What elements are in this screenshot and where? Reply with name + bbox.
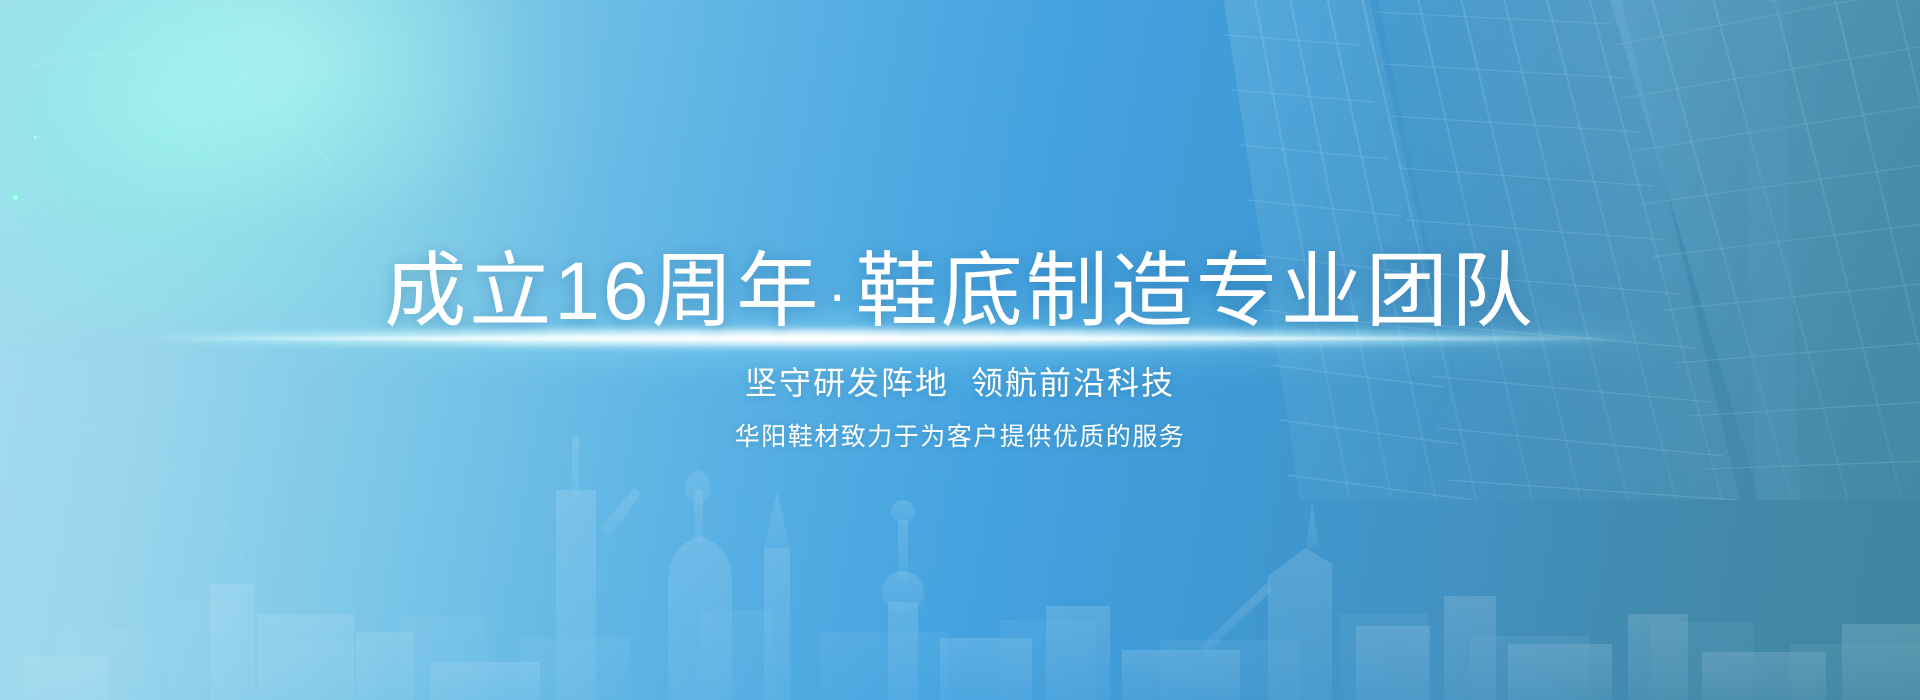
headline-prefix: 成立16周年 xyxy=(384,246,821,337)
subline-part-1: 坚守研发阵地 xyxy=(745,365,949,401)
headline-suffix: 鞋底制造专业团队 xyxy=(856,246,1536,337)
banner-subline: 坚守研发阵地领航前沿科技 xyxy=(745,367,1175,399)
banner-tagline: 华阳鞋材致力于为客户提供优质的服务 xyxy=(735,425,1186,450)
subline-part-2: 领航前沿科技 xyxy=(971,365,1175,401)
banner-headline: 成立16周年·鞋底制造专业团队 xyxy=(384,251,1536,333)
headline-separator-dot-icon: · xyxy=(821,262,855,327)
banner-content: 成立16周年·鞋底制造专业团队 坚守研发阵地领航前沿科技 华阳鞋材致力于为客户提… xyxy=(0,0,1920,700)
hero-banner: 成立16周年·鞋底制造专业团队 坚守研发阵地领航前沿科技 华阳鞋材致力于为客户提… xyxy=(0,0,1920,700)
